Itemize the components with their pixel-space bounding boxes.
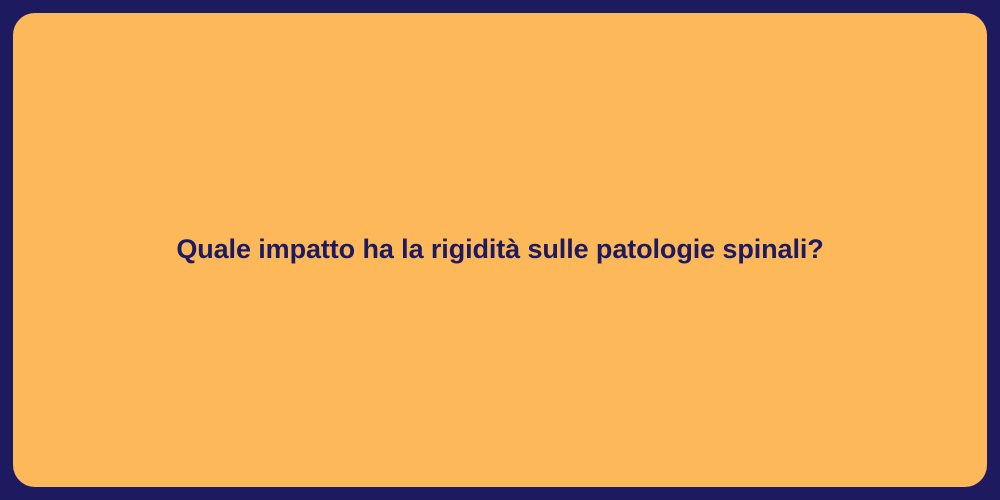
question-card-surface: Quale impatto ha la rigidità sulle patol…	[13, 13, 987, 487]
question-card-frame: Quale impatto ha la rigidità sulle patol…	[0, 0, 1000, 500]
question-text: Quale impatto ha la rigidità sulle patol…	[176, 233, 823, 267]
